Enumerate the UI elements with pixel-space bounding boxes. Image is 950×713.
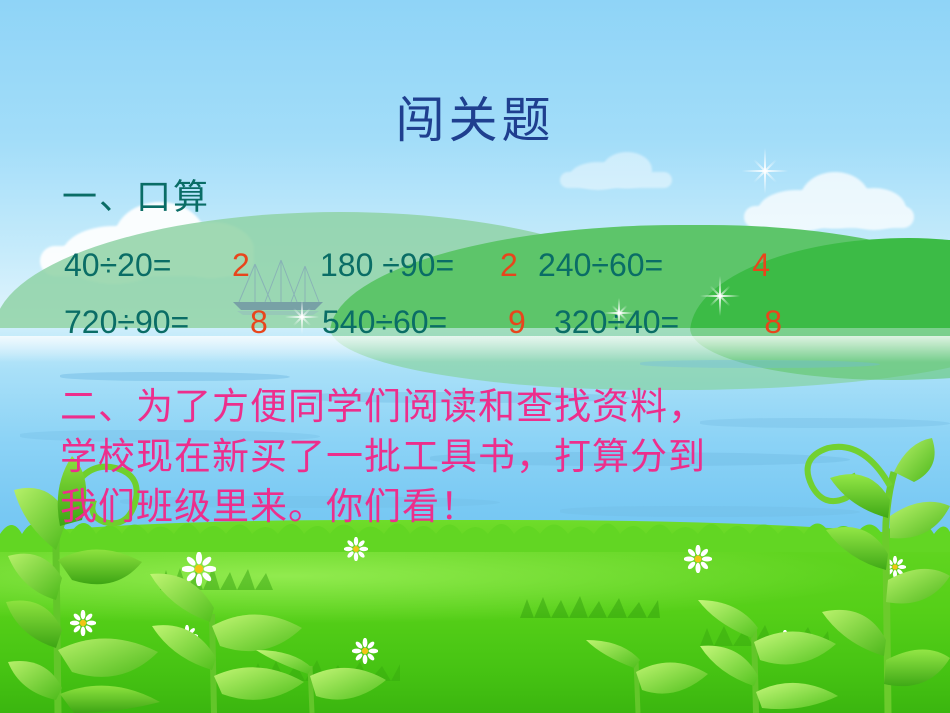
section-one-heading: 一、口算 bbox=[62, 180, 210, 215]
math-answer: 9 bbox=[502, 304, 554, 341]
math-question: 540÷60= bbox=[322, 304, 502, 341]
paragraph-line: 二、为了方便同学们阅读和查找资料， bbox=[60, 383, 820, 433]
oral-math-row: 720÷90=8540÷60=9320÷40=8 bbox=[64, 304, 894, 341]
math-question: 180 ÷90= bbox=[320, 247, 500, 284]
oral-math-row: 40÷20=2180 ÷90=2240÷60=4 bbox=[64, 247, 894, 284]
presentation-slide: 闯关题 一、口算 40÷20=2180 ÷90=2240÷60=4 720÷90… bbox=[0, 0, 950, 713]
math-question: 40÷20= bbox=[64, 247, 222, 284]
math-answer: 8 bbox=[724, 304, 782, 341]
math-answer: 8 bbox=[232, 304, 322, 341]
section-two-paragraph: 二、为了方便同学们阅读和查找资料， 学校现在新买了一批工具书，打算分到 我们班级… bbox=[60, 383, 820, 533]
math-question: 720÷90= bbox=[64, 304, 232, 341]
math-question: 240÷60= bbox=[538, 247, 710, 284]
page-title: 闯关题 bbox=[0, 96, 950, 145]
paragraph-line: 学校现在新买了一批工具书，打算分到 bbox=[60, 433, 820, 483]
math-answer: 2 bbox=[500, 247, 538, 284]
math-answer: 2 bbox=[222, 247, 320, 284]
math-answer: 4 bbox=[710, 247, 770, 284]
slide-content: 闯关题 一、口算 40÷20=2180 ÷90=2240÷60=4 720÷90… bbox=[0, 0, 950, 713]
math-question: 320÷40= bbox=[554, 304, 724, 341]
paragraph-line: 我们班级里来。你们看！ bbox=[60, 483, 820, 533]
